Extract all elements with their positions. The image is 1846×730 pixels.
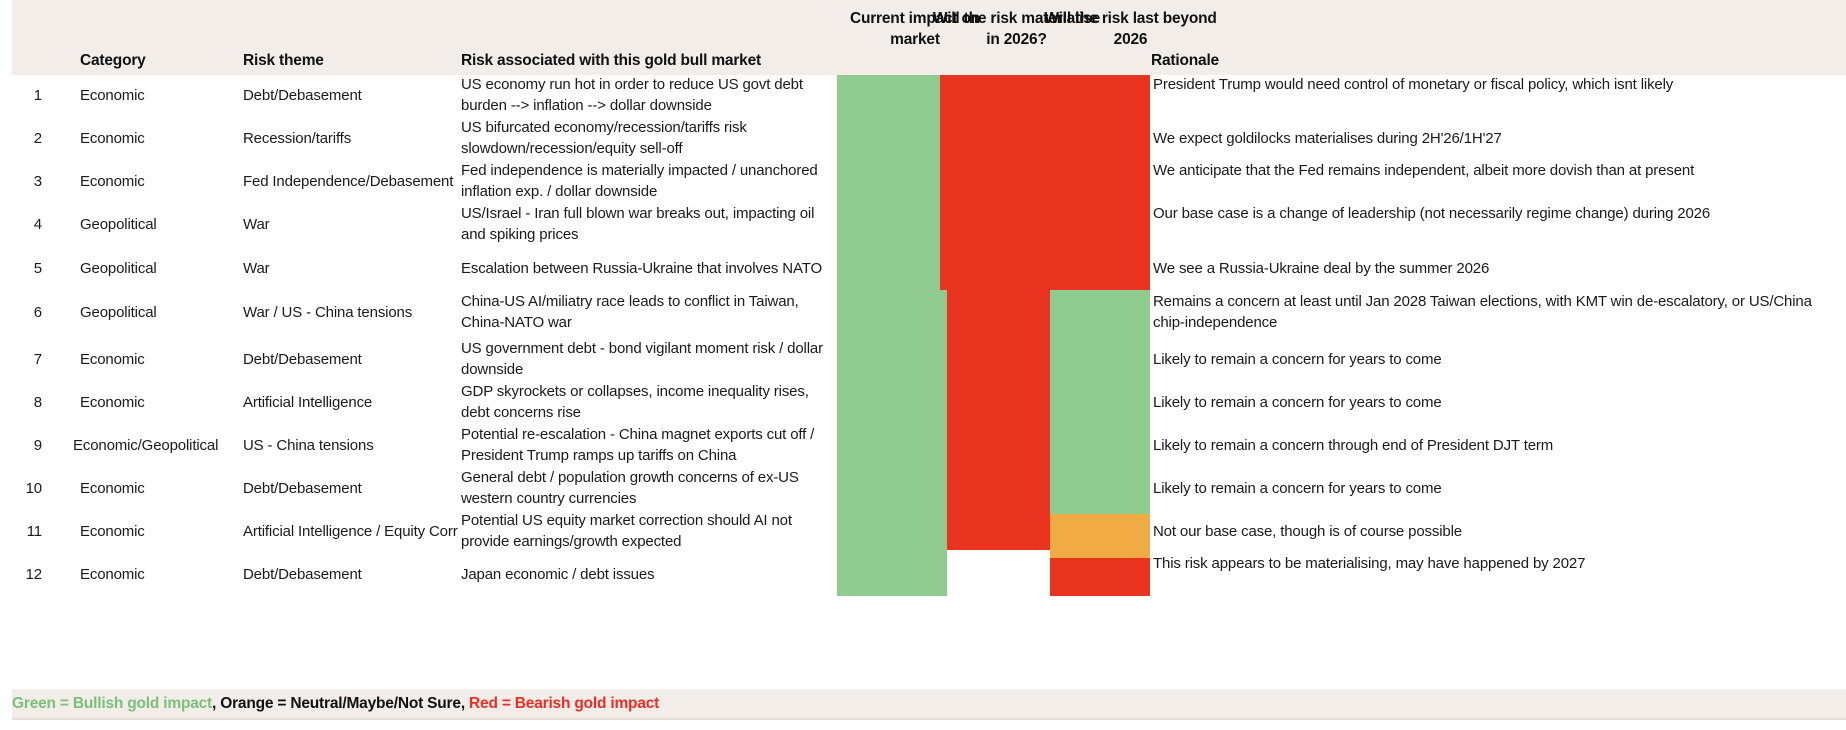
column-header-risk-theme: Risk theme: [243, 50, 453, 71]
table-row: 9: [20, 435, 42, 456]
impact-cell-current-green-block-lower: [837, 290, 947, 596]
header-band-gutter: [0, 0, 12, 75]
impact-cell-beyond-red-block-bottom: [1050, 558, 1145, 596]
table-row: US government debt - bond vigilant momen…: [461, 338, 837, 380]
table-row: 11: [14, 521, 42, 542]
legend-green-label: Green = Bullish gold impact: [12, 695, 212, 712]
table-row: Recession/tariffs: [243, 128, 458, 149]
table-row: Geopolitical: [80, 214, 240, 235]
impact-cell-materialise-red-block-lower: [947, 290, 1050, 550]
rationale-accent-green: [1145, 290, 1150, 514]
impact-cell-beyond-orange-block: [1050, 514, 1145, 558]
table-row: 4: [20, 214, 42, 235]
legend-red-label: Red = Bearish gold impact: [469, 695, 659, 712]
table-row: Debt/Debasement: [243, 478, 458, 499]
table-row: Not our base case, though is of course p…: [1153, 521, 1841, 542]
table-row: Economic: [80, 171, 240, 192]
table-row: 2: [20, 128, 42, 149]
table-row: Debt/Debasement: [243, 564, 458, 585]
table-row: 12: [14, 564, 42, 585]
table-row: US economy run hot in order to reduce US…: [461, 74, 837, 116]
column-header-category: Category: [80, 50, 230, 71]
table-row: 3: [20, 171, 42, 192]
table-row: Japan economic / debt issues: [461, 564, 837, 585]
table-row: China-US AI/miliatry race leads to confl…: [461, 291, 837, 333]
table-row: Economic: [80, 128, 240, 149]
table-row: We anticipate that the Fed remains indep…: [1153, 160, 1841, 181]
rationale-accent-red-top: [1145, 75, 1150, 290]
table-row: Economic: [80, 478, 240, 499]
table-row: Fed Independence/Debasement: [243, 171, 468, 192]
table-row: Remains a concern at least until Jan 202…: [1153, 291, 1841, 333]
table-row: 6: [20, 302, 42, 323]
table-row: Potential US equity market correction sh…: [461, 510, 837, 552]
table-row: Artificial Intelligence: [243, 392, 458, 413]
table-row: GDP skyrockets or collapses, income ineq…: [461, 381, 837, 423]
table-row: War: [243, 214, 458, 235]
table-row: War / US - China tensions: [243, 302, 468, 323]
table-row: Economic/Geopolitical: [73, 435, 248, 456]
risk-matrix-table: Category Risk theme Risk associated with…: [0, 0, 1846, 730]
table-row: Economic: [80, 349, 240, 370]
table-row: Economic: [80, 521, 240, 542]
table-row: We see a Russia-Ukraine deal by the summ…: [1153, 258, 1841, 279]
impact-cell-beyond-green-block: [1050, 290, 1145, 514]
table-row: 1: [20, 85, 42, 106]
table-row: Fed independence is materially impacted …: [461, 160, 837, 202]
legend-separator-1: ,: [212, 695, 220, 712]
table-row: General debt / population growth concern…: [461, 467, 837, 509]
impact-cell-materialise-red-block-upper: [940, 75, 1050, 290]
legend: Green = Bullish gold impact, Orange = Ne…: [12, 692, 659, 716]
bottom-rule: [12, 718, 1846, 720]
table-row: Likely to remain a concern for years to …: [1153, 349, 1841, 370]
table-row: 7: [20, 349, 42, 370]
table-row: Our base case is a change of leadership …: [1153, 203, 1841, 224]
column-header-risk-description: Risk associated with this gold bull mark…: [461, 50, 961, 71]
table-row: 10: [14, 478, 42, 499]
column-header-last-beyond-2026: Will the risk last beyond 2026: [1043, 8, 1218, 50]
column-header-rationale: Rationale: [1151, 50, 1331, 71]
table-row: We expect goldilocks materialises during…: [1153, 128, 1841, 149]
impact-cell-beyond-red-block-top: [1050, 75, 1145, 290]
table-row: This risk appears to be materialising, m…: [1153, 553, 1841, 574]
table-row: 5: [20, 258, 42, 279]
table-row: Escalation between Russia-Ukraine that i…: [461, 258, 837, 279]
table-row: Geopolitical: [80, 258, 240, 279]
table-row: President Trump would need control of mo…: [1153, 74, 1841, 95]
table-row: Debt/Debasement: [243, 85, 458, 106]
table-row: Economic: [80, 85, 240, 106]
rationale-accent-red-bottom: [1145, 558, 1150, 596]
table-row: US bifurcated economy/recession/tariffs …: [461, 117, 837, 159]
table-row: Economic: [80, 564, 240, 585]
legend-separator-2: ,: [461, 695, 469, 712]
table-row: War: [243, 258, 458, 279]
rationale-accent-orange: [1145, 514, 1150, 558]
table-row: Artificial Intelligence / Equity Corr: [243, 521, 473, 542]
table-row: Economic: [80, 392, 240, 413]
table-row: 8: [20, 392, 42, 413]
table-row: Likely to remain a concern for years to …: [1153, 478, 1841, 499]
table-row: Geopolitical: [80, 302, 240, 323]
table-row: US/Israel - Iran full blown war breaks o…: [461, 203, 837, 245]
table-row: Potential re-escalation - China magnet e…: [461, 424, 837, 466]
table-row: US - China tensions: [243, 435, 458, 456]
table-row: Likely to remain a concern for years to …: [1153, 392, 1841, 413]
table-row: Likely to remain a concern through end o…: [1153, 435, 1841, 456]
table-row: Debt/Debasement: [243, 349, 458, 370]
legend-orange-label: Orange = Neutral/Maybe/Not Sure: [220, 695, 461, 712]
